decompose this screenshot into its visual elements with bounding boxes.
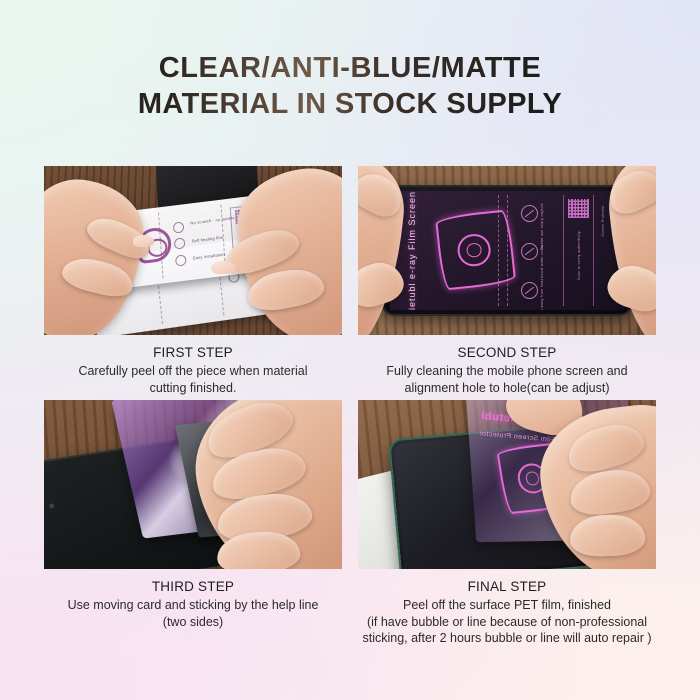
- title-line-2: MATERIAL IN STOCK SUPPLY: [0, 86, 700, 122]
- step-caption-first: FIRST STEP Carefully peel off the piece …: [44, 335, 342, 400]
- step-title-third: THIRD STEP: [44, 577, 342, 596]
- left-fingernail: [133, 235, 154, 247]
- step-photo-second: 黑特铂 Mietubl e-ray Film Screen Protector: [358, 166, 656, 335]
- step-text-line: Peel off the surface PET film, finished: [358, 597, 656, 614]
- step-caption-third: THIRD STEP Use moving card and sticking …: [44, 569, 342, 630]
- step-photo-third: [44, 400, 342, 569]
- smartphone-device: 黑特铂 Mietubl e-ray Film Screen Protector: [382, 185, 632, 317]
- qr-code-icon: [568, 199, 589, 218]
- warning-icon: [521, 282, 538, 299]
- step-text-line: Fully cleaning the mobile phone screen a…: [358, 363, 656, 380]
- steps-grid: Anti Blue Hydrogel protect film soft scr…: [44, 166, 656, 647]
- step-text-line: Use moving card and sticking by the help…: [44, 597, 342, 614]
- step-text-line: sticking, after 2 hours bubble or line w…: [358, 630, 656, 647]
- step-title-final: FINAL STEP: [358, 577, 656, 596]
- step-text-line: Carefully peel off the piece when materi…: [44, 363, 342, 380]
- step-photo-first: Anti Blue Hydrogel protect film soft scr…: [44, 166, 342, 335]
- step-text-line: cutting finished.: [44, 380, 342, 397]
- step-card-second: 黑特铂 Mietubl e-ray Film Screen Protector: [358, 166, 656, 400]
- promo-banner: CLEAR/ANTI-BLUE/MATTE MATERIAL IN STOCK …: [0, 0, 700, 700]
- step-card-final: Mietubl e-ray Film Screen Protector FINA…: [358, 400, 656, 647]
- step-title-first: FIRST STEP: [44, 343, 342, 362]
- title-line-1: CLEAR/ANTI-BLUE/MATTE: [0, 50, 700, 86]
- warning-icon: [521, 205, 538, 222]
- step-card-third: THIRD STEP Use moving card and sticking …: [44, 400, 342, 647]
- step-caption-second: SECOND STEP Fully cleaning the mobile ph…: [358, 335, 656, 400]
- step-card-first: Anti Blue Hydrogel protect film soft scr…: [44, 166, 342, 400]
- step-text-line: (if have bubble or line because of non-p…: [358, 614, 656, 631]
- step-text-line: (two sides): [44, 614, 342, 631]
- brand-label: 黑特铂 Mietubl e-ray Film Screen Protector: [404, 191, 420, 311]
- warning-icon: [521, 243, 538, 260]
- right-fingernail: [211, 261, 235, 275]
- step-text-line: alignment hole to hole(can be adjust): [358, 380, 656, 397]
- mietubl-eye-logo-icon: [435, 210, 516, 291]
- hydrogel-film-overlay: 黑特铂 Mietubl e-ray Film Screen Protector: [390, 191, 624, 311]
- step-title-second: SECOND STEP: [358, 343, 656, 362]
- step-photo-final: Mietubl e-ray Film Screen Protector: [358, 400, 656, 569]
- page-title: CLEAR/ANTI-BLUE/MATTE MATERIAL IN STOCK …: [0, 50, 700, 122]
- step-caption-final: FINAL STEP Peel off the surface PET film…: [358, 569, 656, 647]
